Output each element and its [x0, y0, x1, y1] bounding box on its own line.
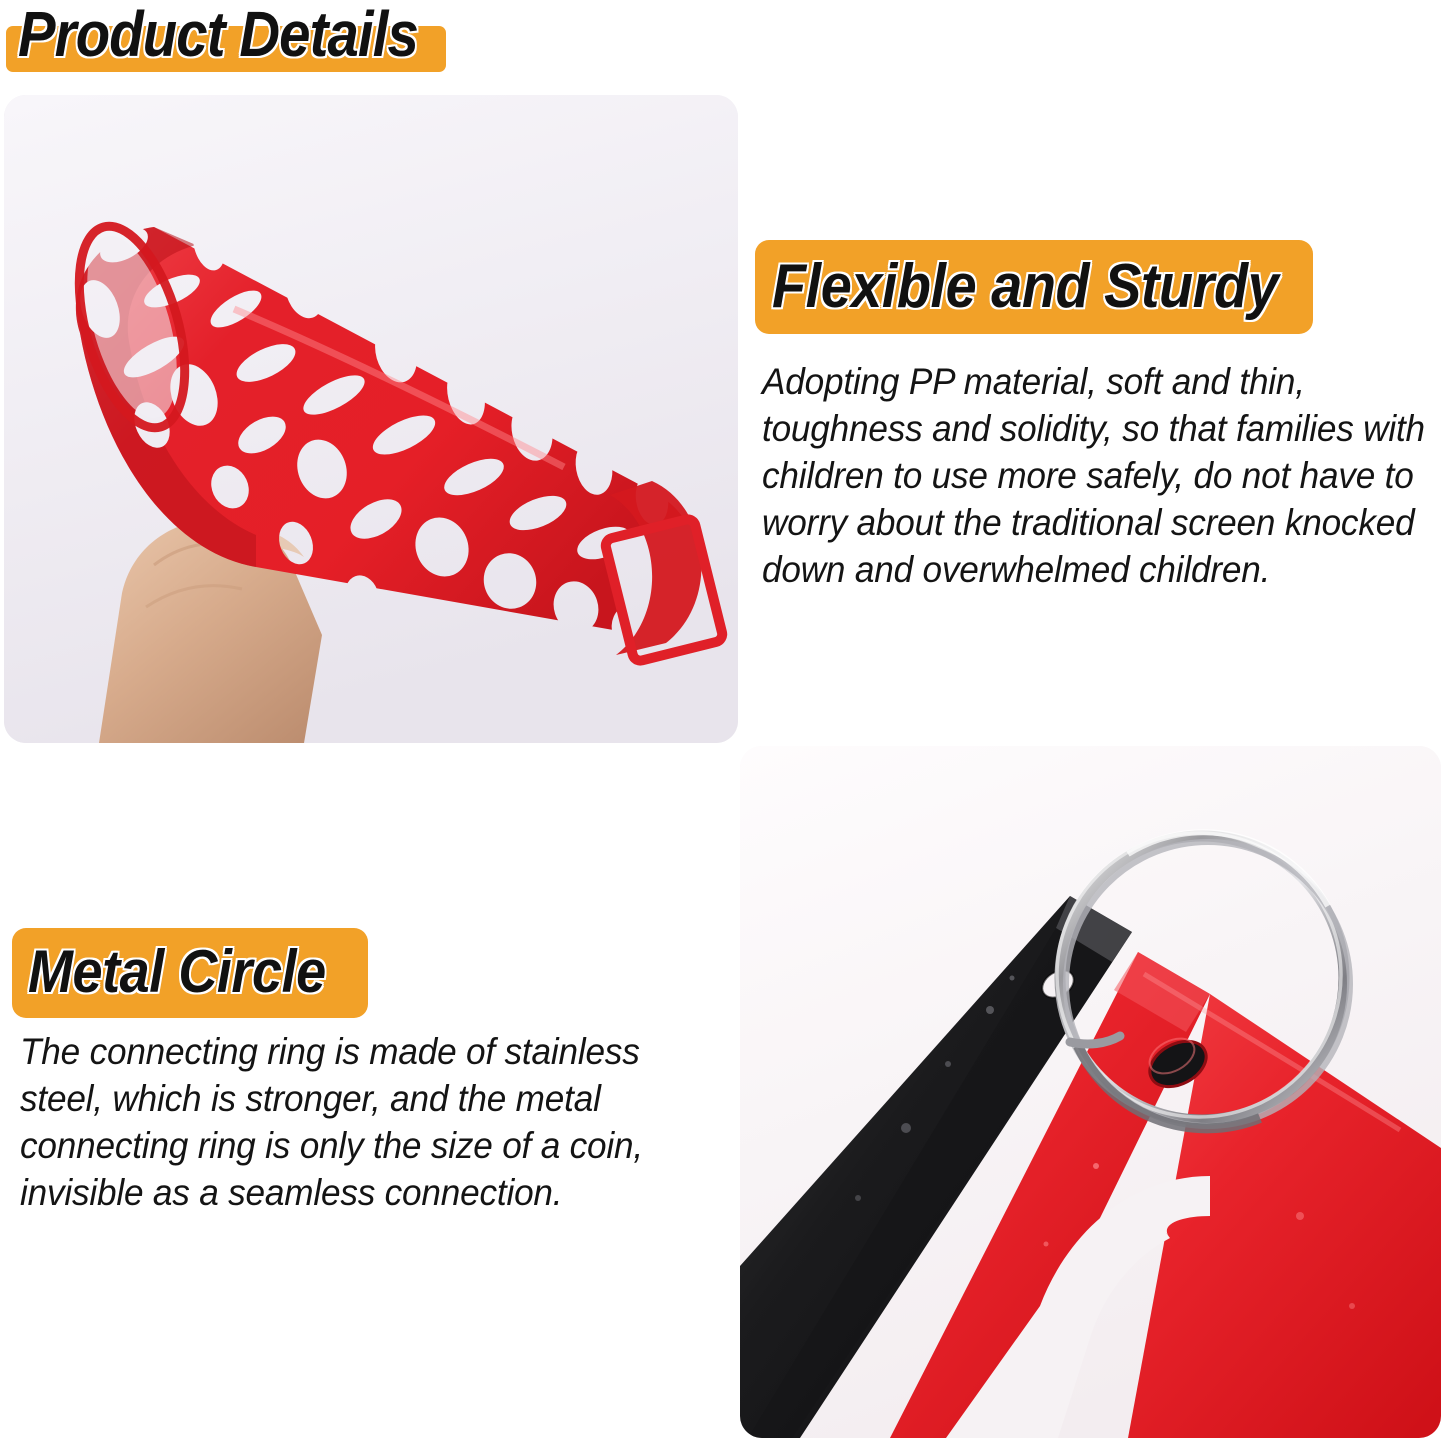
rolled-red-panel-illustration [4, 95, 738, 743]
page-title-text: Product Details [18, 1, 418, 67]
product-photo-metal-ring [740, 746, 1441, 1438]
section-heading-flexible: Flexible and Sturdy [772, 247, 1278, 327]
product-photo-flexible-panel [4, 95, 738, 743]
split-ring-illustration [740, 746, 1441, 1438]
section-body-flexible: Adopting PP material, soft and thin, tou… [762, 358, 1437, 593]
section-heading-metal: Metal Circle [28, 933, 326, 1011]
page-title: Product Details [0, 0, 470, 82]
section-body-metal: The connecting ring is made of stainless… [20, 1028, 704, 1216]
